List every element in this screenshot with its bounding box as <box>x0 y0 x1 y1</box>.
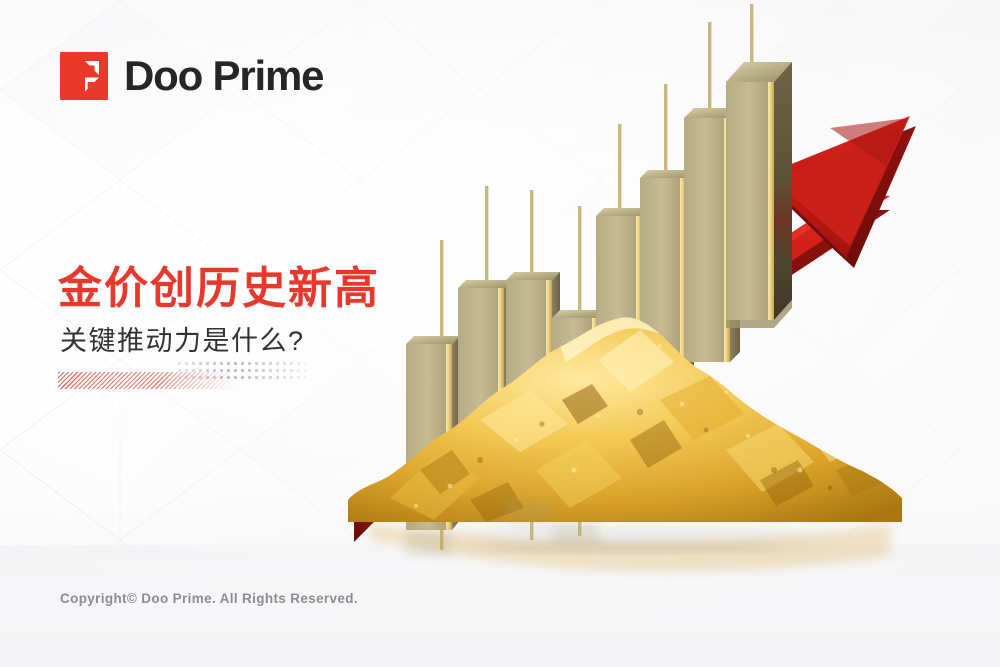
copyright-text: Copyright© Doo Prime. All Rights Reserve… <box>60 591 358 606</box>
doo-prime-logo-mark <box>60 52 108 100</box>
brand-logo[interactable]: Doo Prime <box>60 52 323 100</box>
logo-wordmark: Doo Prime <box>124 55 323 97</box>
decorative-accent <box>58 360 308 390</box>
page-title: 金价创历史新高 <box>58 265 478 313</box>
page-subtitle: 关键推动力是什么? <box>60 325 478 357</box>
diagonal-hatch-stripe-icon <box>58 372 238 389</box>
promo-banner: Doo Prime 金价创历史新高 关键推动力是什么? Copyright© D… <box>0 0 1000 667</box>
headline-block: 金价创历史新高 关键推动力是什么? <box>58 265 478 357</box>
